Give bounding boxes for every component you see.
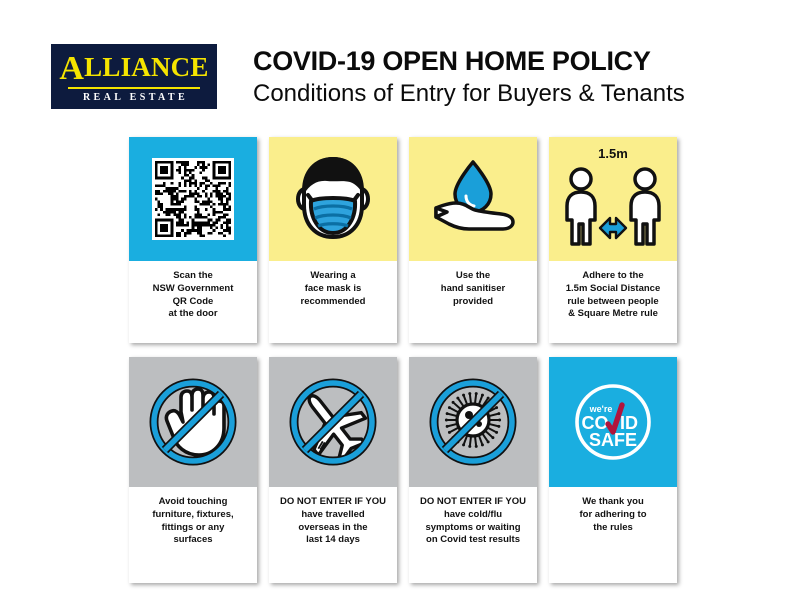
card-hand-sanitiser: Use the hand sanitiser provided bbox=[409, 137, 537, 343]
hand-sanitiser-icon bbox=[423, 156, 523, 242]
logo-divider bbox=[68, 87, 200, 89]
card-covid-safe: we're CO ID SAFE We thank you for adheri… bbox=[549, 357, 677, 583]
face-mask-icon bbox=[290, 153, 376, 245]
card-no-touching: Avoid touching furniture, fixtures, fitt… bbox=[129, 357, 257, 583]
no-aeroplane-icon bbox=[285, 374, 381, 470]
card-media-hand-sanitiser bbox=[409, 137, 537, 261]
poster-root: ALLIANCE REAL ESTATE COVID-19 OPEN HOME … bbox=[0, 0, 800, 600]
card-caption-qr-code: Scan the NSW Government QR Code at the d… bbox=[129, 261, 257, 343]
covid-safe-badge-icon: we're CO ID SAFE bbox=[567, 376, 659, 468]
card-media-no-travel bbox=[269, 357, 397, 487]
card-media-qr-code bbox=[129, 137, 257, 261]
logo-subtitle: REAL ESTATE bbox=[80, 92, 188, 103]
conditions-row-bottom: Avoid touching furniture, fixtures, fitt… bbox=[129, 357, 681, 583]
card-qr-code: Scan the NSW Government QR Code at the d… bbox=[129, 137, 257, 343]
conditions-row-top: Scan the NSW Government QR Code at the d… bbox=[129, 137, 681, 343]
card-caption-no-symptoms: DO NOT ENTER IF YOU have cold/flu sympto… bbox=[409, 487, 537, 583]
card-caption-hand-sanitiser: Use the hand sanitiser provided bbox=[409, 261, 537, 343]
title-block: COVID-19 OPEN HOME POLICY Conditions of … bbox=[253, 46, 753, 109]
logo-wordmark: ALLIANCE bbox=[57, 52, 210, 86]
page-title: COVID-19 OPEN HOME POLICY bbox=[253, 46, 753, 77]
card-media-face-mask bbox=[269, 137, 397, 261]
card-no-travel: DO NOT ENTER IF YOU have travelled overs… bbox=[269, 357, 397, 583]
card-media-covid-safe: we're CO ID SAFE bbox=[549, 357, 677, 487]
card-caption-covid-safe: We thank you for adhering to the rules bbox=[549, 487, 677, 583]
covid-safe-line3: SAFE bbox=[589, 430, 637, 450]
card-media-no-touching bbox=[129, 357, 257, 487]
card-face-mask: Wearing a face mask is recommended bbox=[269, 137, 397, 343]
card-media-no-symptoms bbox=[409, 357, 537, 487]
card-caption-face-mask: Wearing a face mask is recommended bbox=[269, 261, 397, 343]
no-touching-hand-icon bbox=[145, 374, 241, 470]
no-virus-icon bbox=[425, 374, 521, 470]
card-caption-no-touching: Avoid touching furniture, fixtures, fitt… bbox=[129, 487, 257, 583]
card-caption-social-distance: Adhere to the 1.5m Social Distance rule … bbox=[549, 261, 677, 343]
card-caption-no-travel: DO NOT ENTER IF YOU have travelled overs… bbox=[269, 487, 397, 583]
conditions-grid: Scan the NSW Government QR Code at the d… bbox=[129, 137, 681, 583]
card-no-symptoms: DO NOT ENTER IF YOU have cold/flu sympto… bbox=[409, 357, 537, 583]
distance-label: 1.5m bbox=[549, 146, 677, 161]
poster-header: ALLIANCE REAL ESTATE COVID-19 OPEN HOME … bbox=[0, 36, 800, 120]
logo-cap-letter: A bbox=[59, 52, 84, 86]
alliance-logo: ALLIANCE REAL ESTATE bbox=[51, 44, 217, 109]
card-social-distance: 1.5m Adhere to the 1.5m Social Distance … bbox=[549, 137, 677, 343]
social-distance-icon bbox=[557, 166, 669, 250]
page-subtitle: Conditions of Entry for Buyers & Tenants bbox=[253, 80, 753, 109]
card-media-social-distance: 1.5m bbox=[549, 137, 677, 261]
logo-rest-letters: LLIANCE bbox=[84, 52, 208, 82]
qr-code-icon bbox=[152, 158, 234, 240]
